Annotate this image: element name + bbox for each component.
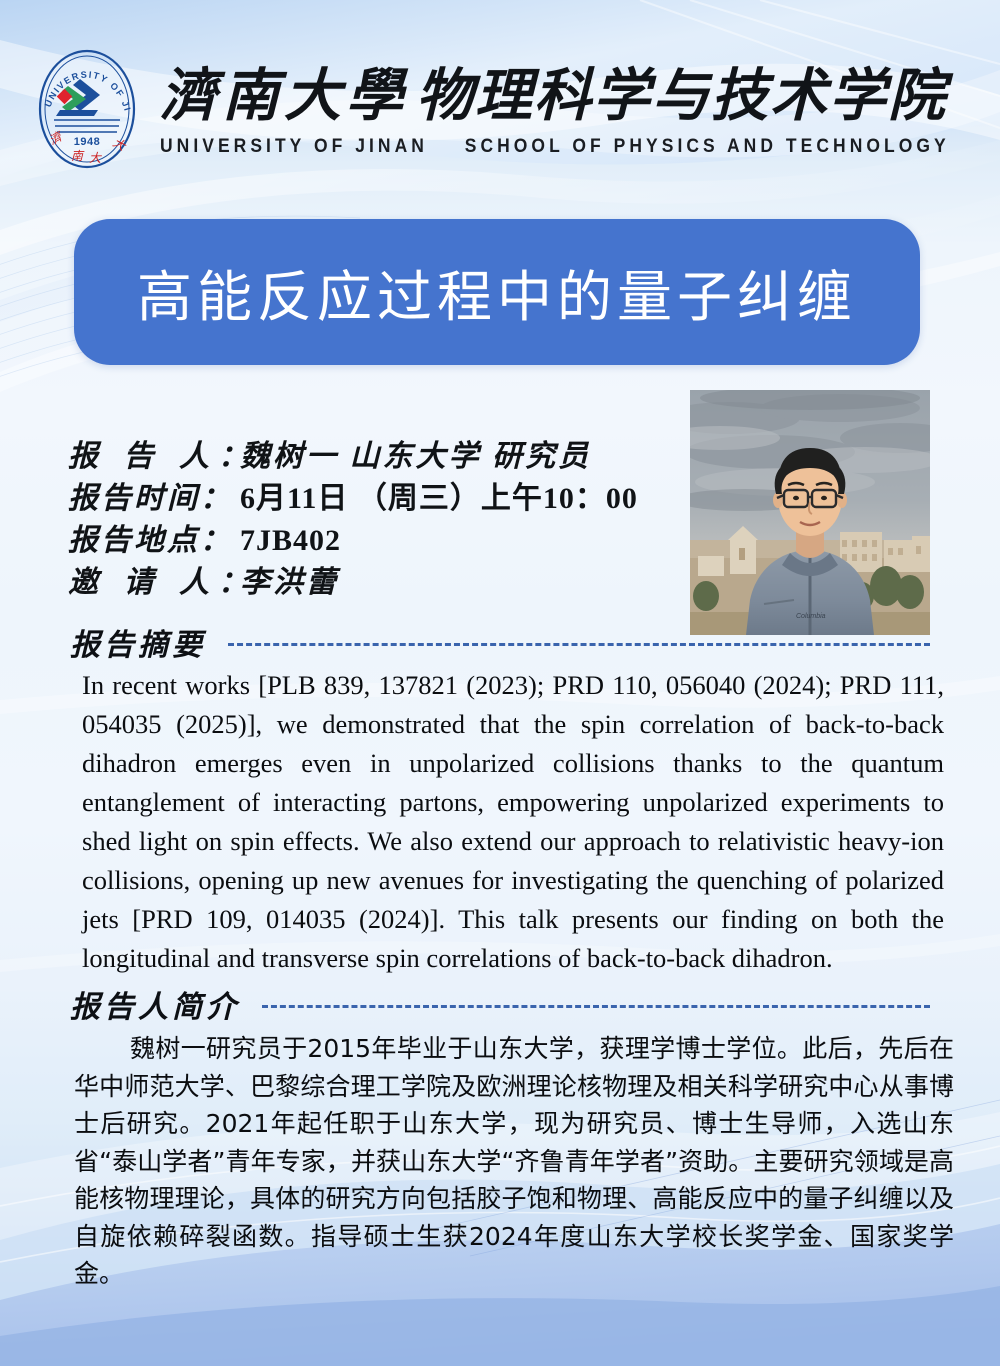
svg-text:南: 南	[71, 149, 85, 163]
header-titles: 濟南大學物理科学与技术学院 UNIVERSITY OF JINANSCHOOL …	[160, 62, 960, 158]
header-school-cn: 物理科学与技术学院	[416, 65, 947, 128]
talk-details: 报 告 人：魏树一 山东大学 研究员 报告时间：6月11日 （周三）上午10：0…	[68, 436, 688, 604]
host-label: 邀 请 人：	[68, 562, 240, 604]
svg-text:1948: 1948	[74, 136, 100, 148]
host-value: 李洪蕾	[240, 566, 339, 599]
header-university-cn: 濟南大學	[160, 65, 416, 128]
header-university-en: UNIVERSITY OF JINAN	[160, 136, 428, 157]
poster-header: UNIVERSITY OF JINAN 1948	[0, 0, 1000, 182]
university-seal-icon: UNIVERSITY OF JINAN 1948	[24, 46, 150, 172]
header-school-en: SCHOOL OF PHYSICS AND TECHNOLOGY	[465, 136, 950, 157]
abstract-divider	[228, 643, 930, 646]
abstract-text: In recent works [PLB 839, 137821 (2023);…	[82, 666, 944, 978]
bio-heading: 报告人简介	[70, 982, 240, 1026]
abstract-heading: 报告摘要	[70, 620, 206, 664]
speaker-photo: Columbia	[690, 390, 930, 635]
header-title-cn: 濟南大學物理科学与技术学院	[160, 62, 960, 132]
detail-row-speaker: 报 告 人：魏树一 山东大学 研究员	[68, 436, 688, 478]
header-subtitle-en: UNIVERSITY OF JINANSCHOOL OF PHYSICS AND…	[160, 136, 896, 158]
speaker-value: 魏树一 山东大学 研究员	[240, 440, 591, 473]
place-value: 7JB402	[240, 524, 341, 557]
svg-text:大: 大	[89, 151, 102, 165]
svg-text:Columbia: Columbia	[796, 613, 826, 620]
time-value: 6月11日 （周三）上午10：00	[240, 482, 638, 515]
time-label: 报告时间：	[68, 478, 240, 520]
detail-row-place: 报告地点：7JB402	[68, 520, 688, 562]
talk-title-banner: 高能反应过程中的量子纠缠	[74, 219, 920, 365]
speaker-label: 报 告 人：	[68, 436, 240, 478]
place-label: 报告地点：	[68, 520, 240, 562]
detail-row-time: 报告时间：6月11日 （周三）上午10：00	[68, 478, 688, 520]
talk-title: 高能反应过程中的量子纠缠	[137, 252, 857, 332]
detail-row-host: 邀 请 人：李洪蕾	[68, 562, 688, 604]
bio-text: 魏树一研究员于2015年毕业于山东大学，获理学博士学位。此后，先后在华中师范大学…	[74, 1030, 954, 1293]
seminar-poster: UNIVERSITY OF JINAN 1948	[0, 0, 1000, 1366]
bio-divider	[262, 1005, 930, 1008]
university-logo: UNIVERSITY OF JINAN 1948	[24, 46, 150, 172]
abstract-section-header: 报告摘要	[70, 620, 930, 664]
speaker-portrait-image: Columbia	[690, 390, 930, 635]
bio-section-header: 报告人简介	[70, 982, 930, 1026]
